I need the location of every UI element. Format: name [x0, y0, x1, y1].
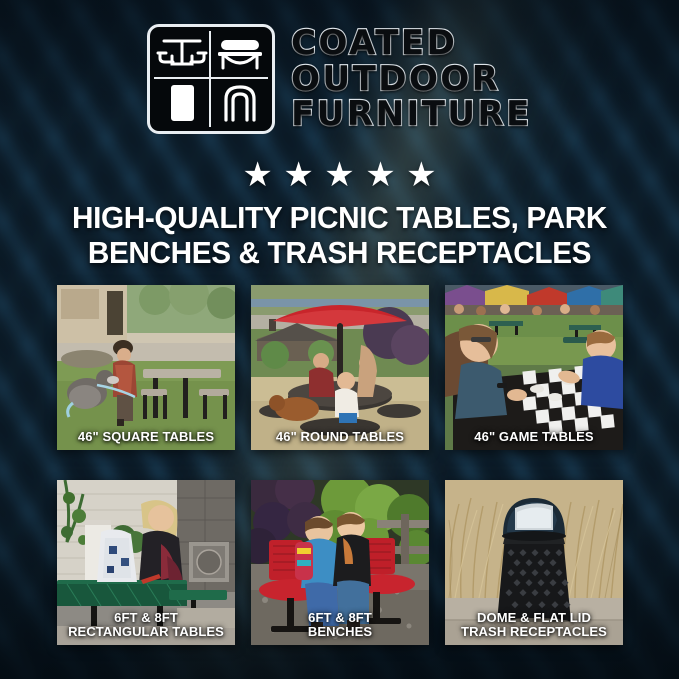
trash-receptacle-icon	[154, 79, 211, 127]
wordmark-line-1: COATED	[291, 26, 532, 61]
caption-line-1: 6FT & 8FT	[61, 611, 231, 625]
caption-line-1: 46" ROUND TABLES	[255, 430, 425, 444]
tile-caption: 46" SQUARE TABLES	[57, 430, 235, 444]
product-tile-square-tables[interactable]: 46" SQUARE TABLES	[57, 285, 235, 450]
tile-caption: 46" GAME TABLES	[445, 430, 623, 444]
headline-line-1: HIGH-QUALITY PICNIC TABLES, PARK	[33, 200, 646, 235]
headline: HIGH-QUALITY PICNIC TABLES, PARK BENCHES…	[0, 200, 679, 270]
product-tile-trash-receptacles[interactable]: DOME & FLAT LID TRASH RECEPTACLES	[445, 480, 623, 645]
star-icon: ★	[324, 158, 354, 192]
tile-caption: 6FT & 8FT BENCHES	[251, 611, 429, 639]
game-table-photo	[445, 285, 623, 450]
logo-icon-grid	[147, 24, 275, 134]
star-icon: ★	[242, 158, 272, 192]
caption-line-2: RECTANGULAR TABLES	[61, 625, 231, 639]
product-tile-benches[interactable]: 6FT & 8FT BENCHES	[251, 480, 429, 645]
tile-caption: 6FT & 8FT RECTANGULAR TABLES	[57, 611, 235, 639]
brand-wordmark: COATED OUTDOOR FURNITURE	[291, 26, 532, 132]
product-tile-rectangular-tables[interactable]: 6FT & 8FT RECTANGULAR TABLES	[57, 480, 235, 645]
picnic-table-icon	[154, 31, 211, 79]
caption-line-2: BENCHES	[255, 625, 425, 639]
product-tile-game-tables[interactable]: 46" GAME TABLES	[445, 285, 623, 450]
bench-icon	[211, 31, 268, 79]
bike-rack-icon	[211, 79, 268, 127]
caption-line-1: 6FT & 8FT	[255, 611, 425, 625]
product-grid: 46" SQUARE TABLES	[57, 285, 623, 645]
star-icon: ★	[365, 158, 395, 192]
caption-line-1: DOME & FLAT LID	[449, 611, 619, 625]
product-tile-round-tables[interactable]: 46" ROUND TABLES	[251, 285, 429, 450]
caption-line-1: 46" GAME TABLES	[449, 430, 619, 444]
brand-logo: COATED OUTDOOR FURNITURE	[0, 24, 679, 134]
poster: COATED OUTDOOR FURNITURE ★ ★ ★ ★ ★ HIGH-…	[0, 0, 679, 679]
tile-caption: DOME & FLAT LID TRASH RECEPTACLES	[445, 611, 623, 639]
wordmark-line-3: FURNITURE	[291, 97, 532, 132]
round-table-photo	[251, 285, 429, 450]
caption-line-2: TRASH RECEPTACLES	[449, 625, 619, 639]
headline-line-2: BENCHES & TRASH RECEPTACLES	[33, 235, 646, 270]
caption-line-1: 46" SQUARE TABLES	[61, 430, 231, 444]
star-rating: ★ ★ ★ ★ ★	[0, 158, 679, 192]
square-table-photo	[57, 285, 235, 450]
tile-caption: 46" ROUND TABLES	[251, 430, 429, 444]
star-icon: ★	[406, 158, 436, 192]
wordmark-line-2: OUTDOOR	[291, 62, 532, 97]
star-icon: ★	[283, 158, 313, 192]
